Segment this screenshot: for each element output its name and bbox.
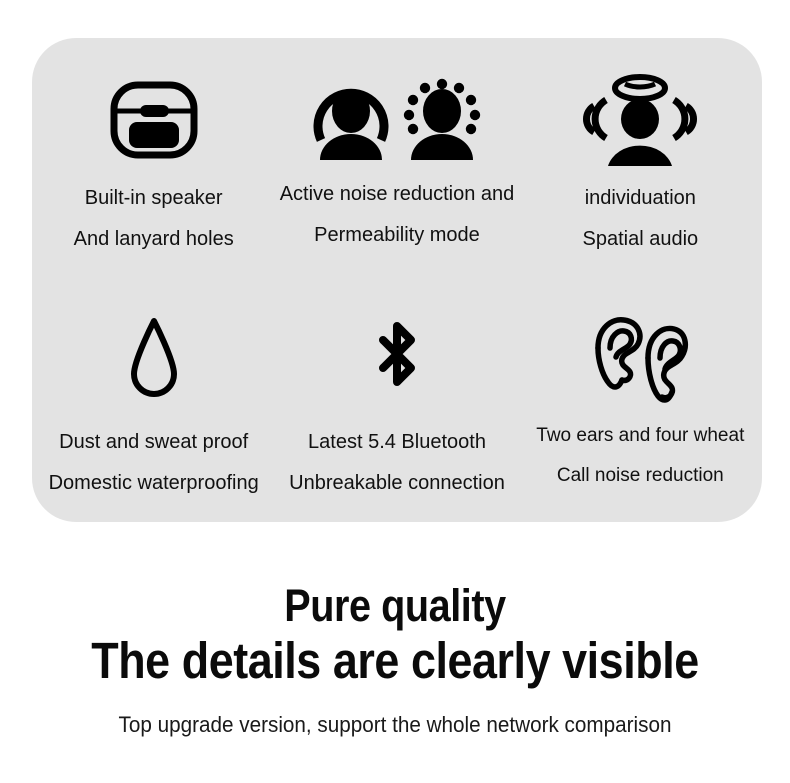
- feature-caption: individuation Spatial audio: [582, 168, 698, 249]
- water-drop-icon: [124, 310, 184, 410]
- feature-caption-line2: Unbreakable connection: [289, 473, 505, 493]
- feature-caption-line2: Call noise reduction: [536, 466, 744, 485]
- two-ears-icon: [588, 310, 692, 410]
- feature-caption-line1: Dust and sweat proof: [49, 432, 259, 452]
- feature-caption-line2: And lanyard holes: [74, 229, 234, 249]
- feature-caption-line2: Spatial audio: [582, 229, 698, 249]
- feature-caption-line1: Built-in speaker: [74, 188, 234, 208]
- feature-item-waterproof: Dust and sweat proof Domestic waterproof…: [32, 280, 275, 522]
- headline-line-1: Pure quality: [47, 580, 742, 632]
- feature-item-bluetooth: Latest 5.4 Bluetooth Unbreakable connect…: [275, 280, 518, 522]
- spatial-audio-person-icon: [580, 72, 700, 168]
- headline-subtitle: Top upgrade version, support the whole n…: [24, 712, 767, 738]
- features-card: Built-in speaker And lanyard holes: [32, 38, 762, 522]
- feature-item-spatial-audio: individuation Spatial audio: [519, 38, 762, 280]
- feature-item-noise-reduction: Active noise reduction and Permeability …: [275, 38, 518, 280]
- feature-caption: Built-in speaker And lanyard holes: [74, 168, 234, 249]
- headline-line-2: The details are clearly visible: [47, 632, 742, 690]
- feature-caption: Dust and sweat proof Domestic waterproof…: [49, 410, 259, 493]
- feature-caption-line1: Latest 5.4 Bluetooth: [289, 432, 505, 452]
- headline-block: Pure quality The details are clearly vis…: [0, 580, 790, 738]
- feature-caption: Two ears and four wheat Call noise reduc…: [536, 410, 744, 485]
- earbuds-case-icon: [108, 72, 200, 168]
- anc-transparency-persons-icon: [307, 72, 487, 168]
- feature-caption-line1: individuation: [582, 188, 698, 208]
- bluetooth-icon: [365, 310, 429, 410]
- feature-caption-line2: Domestic waterproofing: [49, 473, 259, 493]
- feature-item-two-ears: Two ears and four wheat Call noise reduc…: [519, 280, 762, 522]
- feature-caption: Active noise reduction and Permeability …: [280, 168, 515, 245]
- feature-caption-line1: Active noise reduction and: [280, 184, 515, 204]
- feature-caption-line1: Two ears and four wheat: [536, 426, 744, 445]
- feature-caption-line2: Permeability mode: [280, 225, 515, 245]
- features-grid: Built-in speaker And lanyard holes: [32, 38, 762, 522]
- feature-caption: Latest 5.4 Bluetooth Unbreakable connect…: [289, 410, 505, 493]
- feature-item-built-in-speaker: Built-in speaker And lanyard holes: [32, 38, 275, 280]
